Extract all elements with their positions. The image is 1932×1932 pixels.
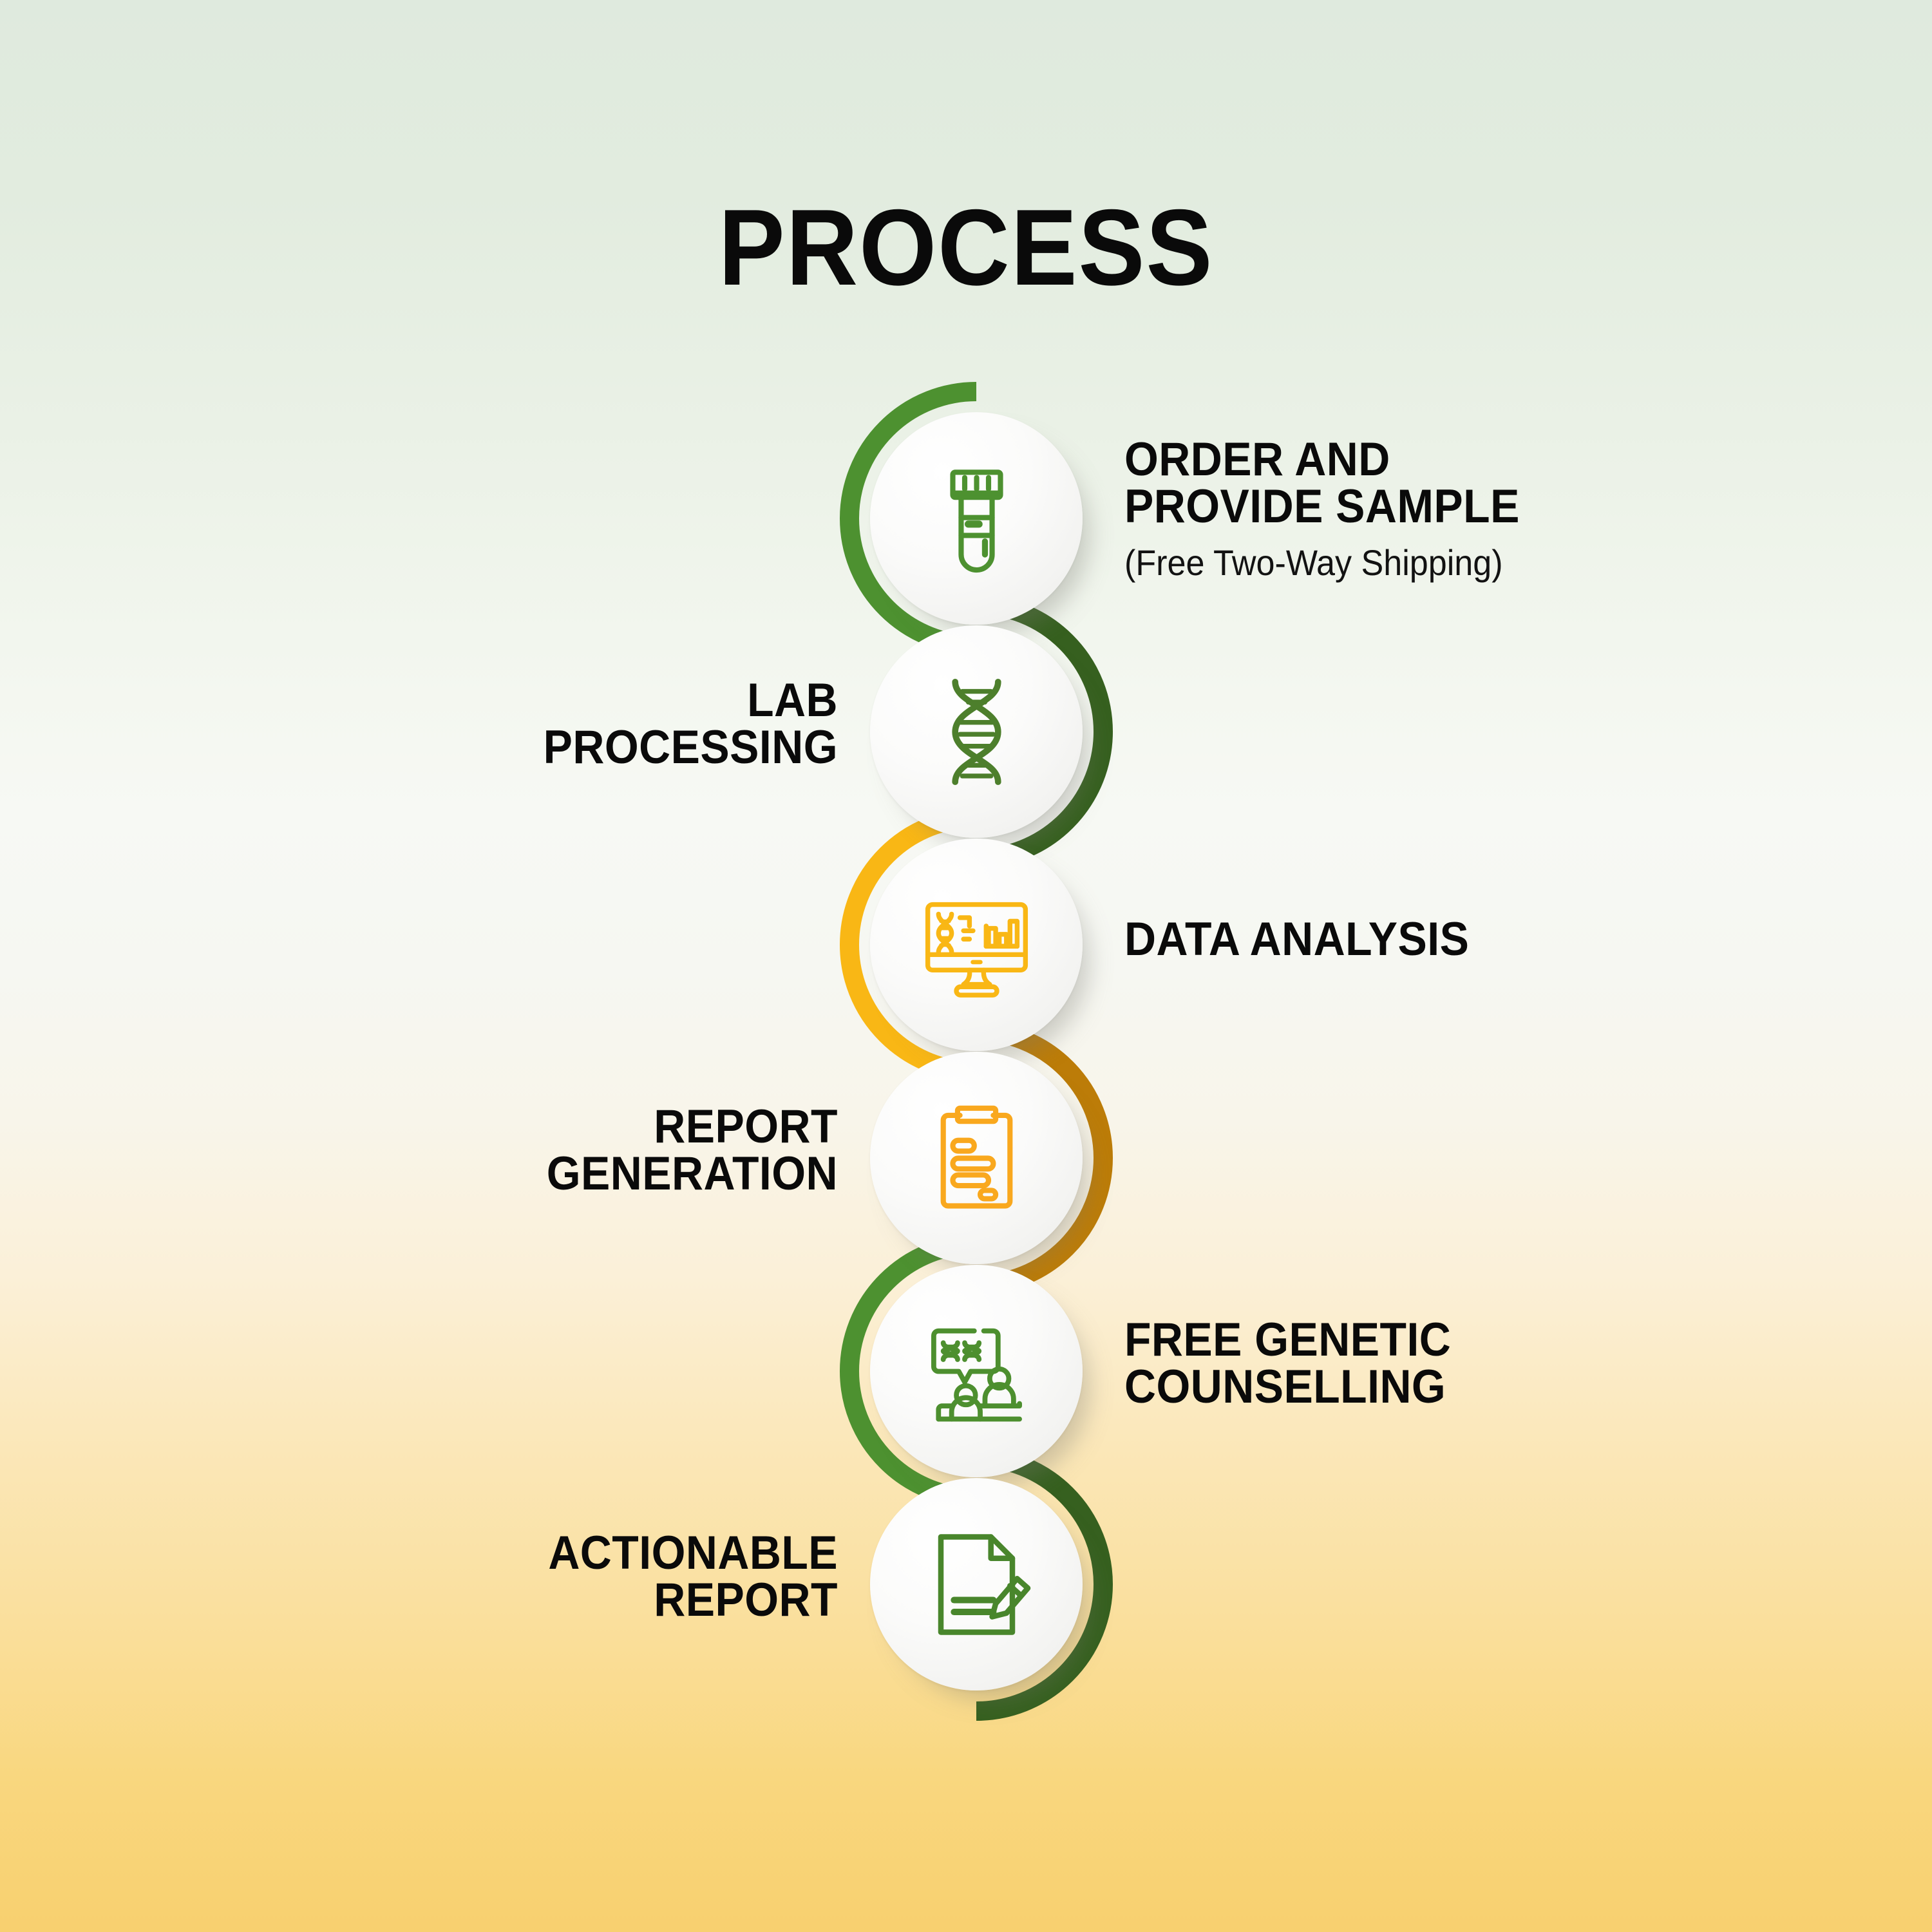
document-pencil-icon (917, 1525, 1036, 1644)
step-title-line: LAB (239, 677, 838, 724)
step-icon-bubble[interactable] (870, 838, 1083, 1051)
step-icon-bubble[interactable] (870, 1265, 1083, 1477)
genetic-counselling-icon (917, 1312, 1036, 1431)
step-icon-bubble[interactable] (870, 625, 1083, 838)
step-label-group: DATA ANALYSIS (1124, 916, 1833, 963)
clipboard-report-icon (917, 1099, 1036, 1218)
step-title-line: ORDER AND (1124, 436, 1783, 483)
step-title-line: REPORT (239, 1577, 838, 1624)
step-label-group: LABPROCESSING (194, 677, 838, 771)
step-title-line: PROCESSING (239, 724, 838, 771)
step-title-line: FREE GENETIC (1124, 1316, 1783, 1363)
step-subtitle: (Free Two-Way Shipping) (1124, 540, 1783, 585)
process-flow: ORDER ANDPROVIDE SAMPLE(Free Two-Way Shi… (0, 0, 1932, 1932)
step-label-group: ACTIONABLEREPORT (194, 1529, 838, 1624)
dna-helix-icon (917, 672, 1036, 791)
step-icon-bubble[interactable] (870, 1478, 1083, 1690)
step-label-group: REPORTGENERATION (194, 1103, 838, 1197)
step-title-line: GENERATION (239, 1150, 838, 1197)
step-icon-bubble[interactable] (870, 412, 1083, 625)
step-title-line: DATA ANALYSIS (1124, 916, 1783, 963)
step-title-line: ACTIONABLE (239, 1529, 838, 1577)
step-title-line: PROVIDE SAMPLE (1124, 483, 1783, 530)
step-icon-bubble[interactable] (870, 1052, 1083, 1264)
step-title-line: COUNSELLING (1124, 1363, 1783, 1410)
test-tube-icon (917, 459, 1036, 578)
step-title-line: REPORT (239, 1103, 838, 1150)
step-label-group: FREE GENETICCOUNSELLING (1124, 1316, 1833, 1410)
step-label-group: ORDER ANDPROVIDE SAMPLE(Free Two-Way Shi… (1124, 436, 1833, 585)
monitor-analytics-icon (917, 885, 1036, 1005)
